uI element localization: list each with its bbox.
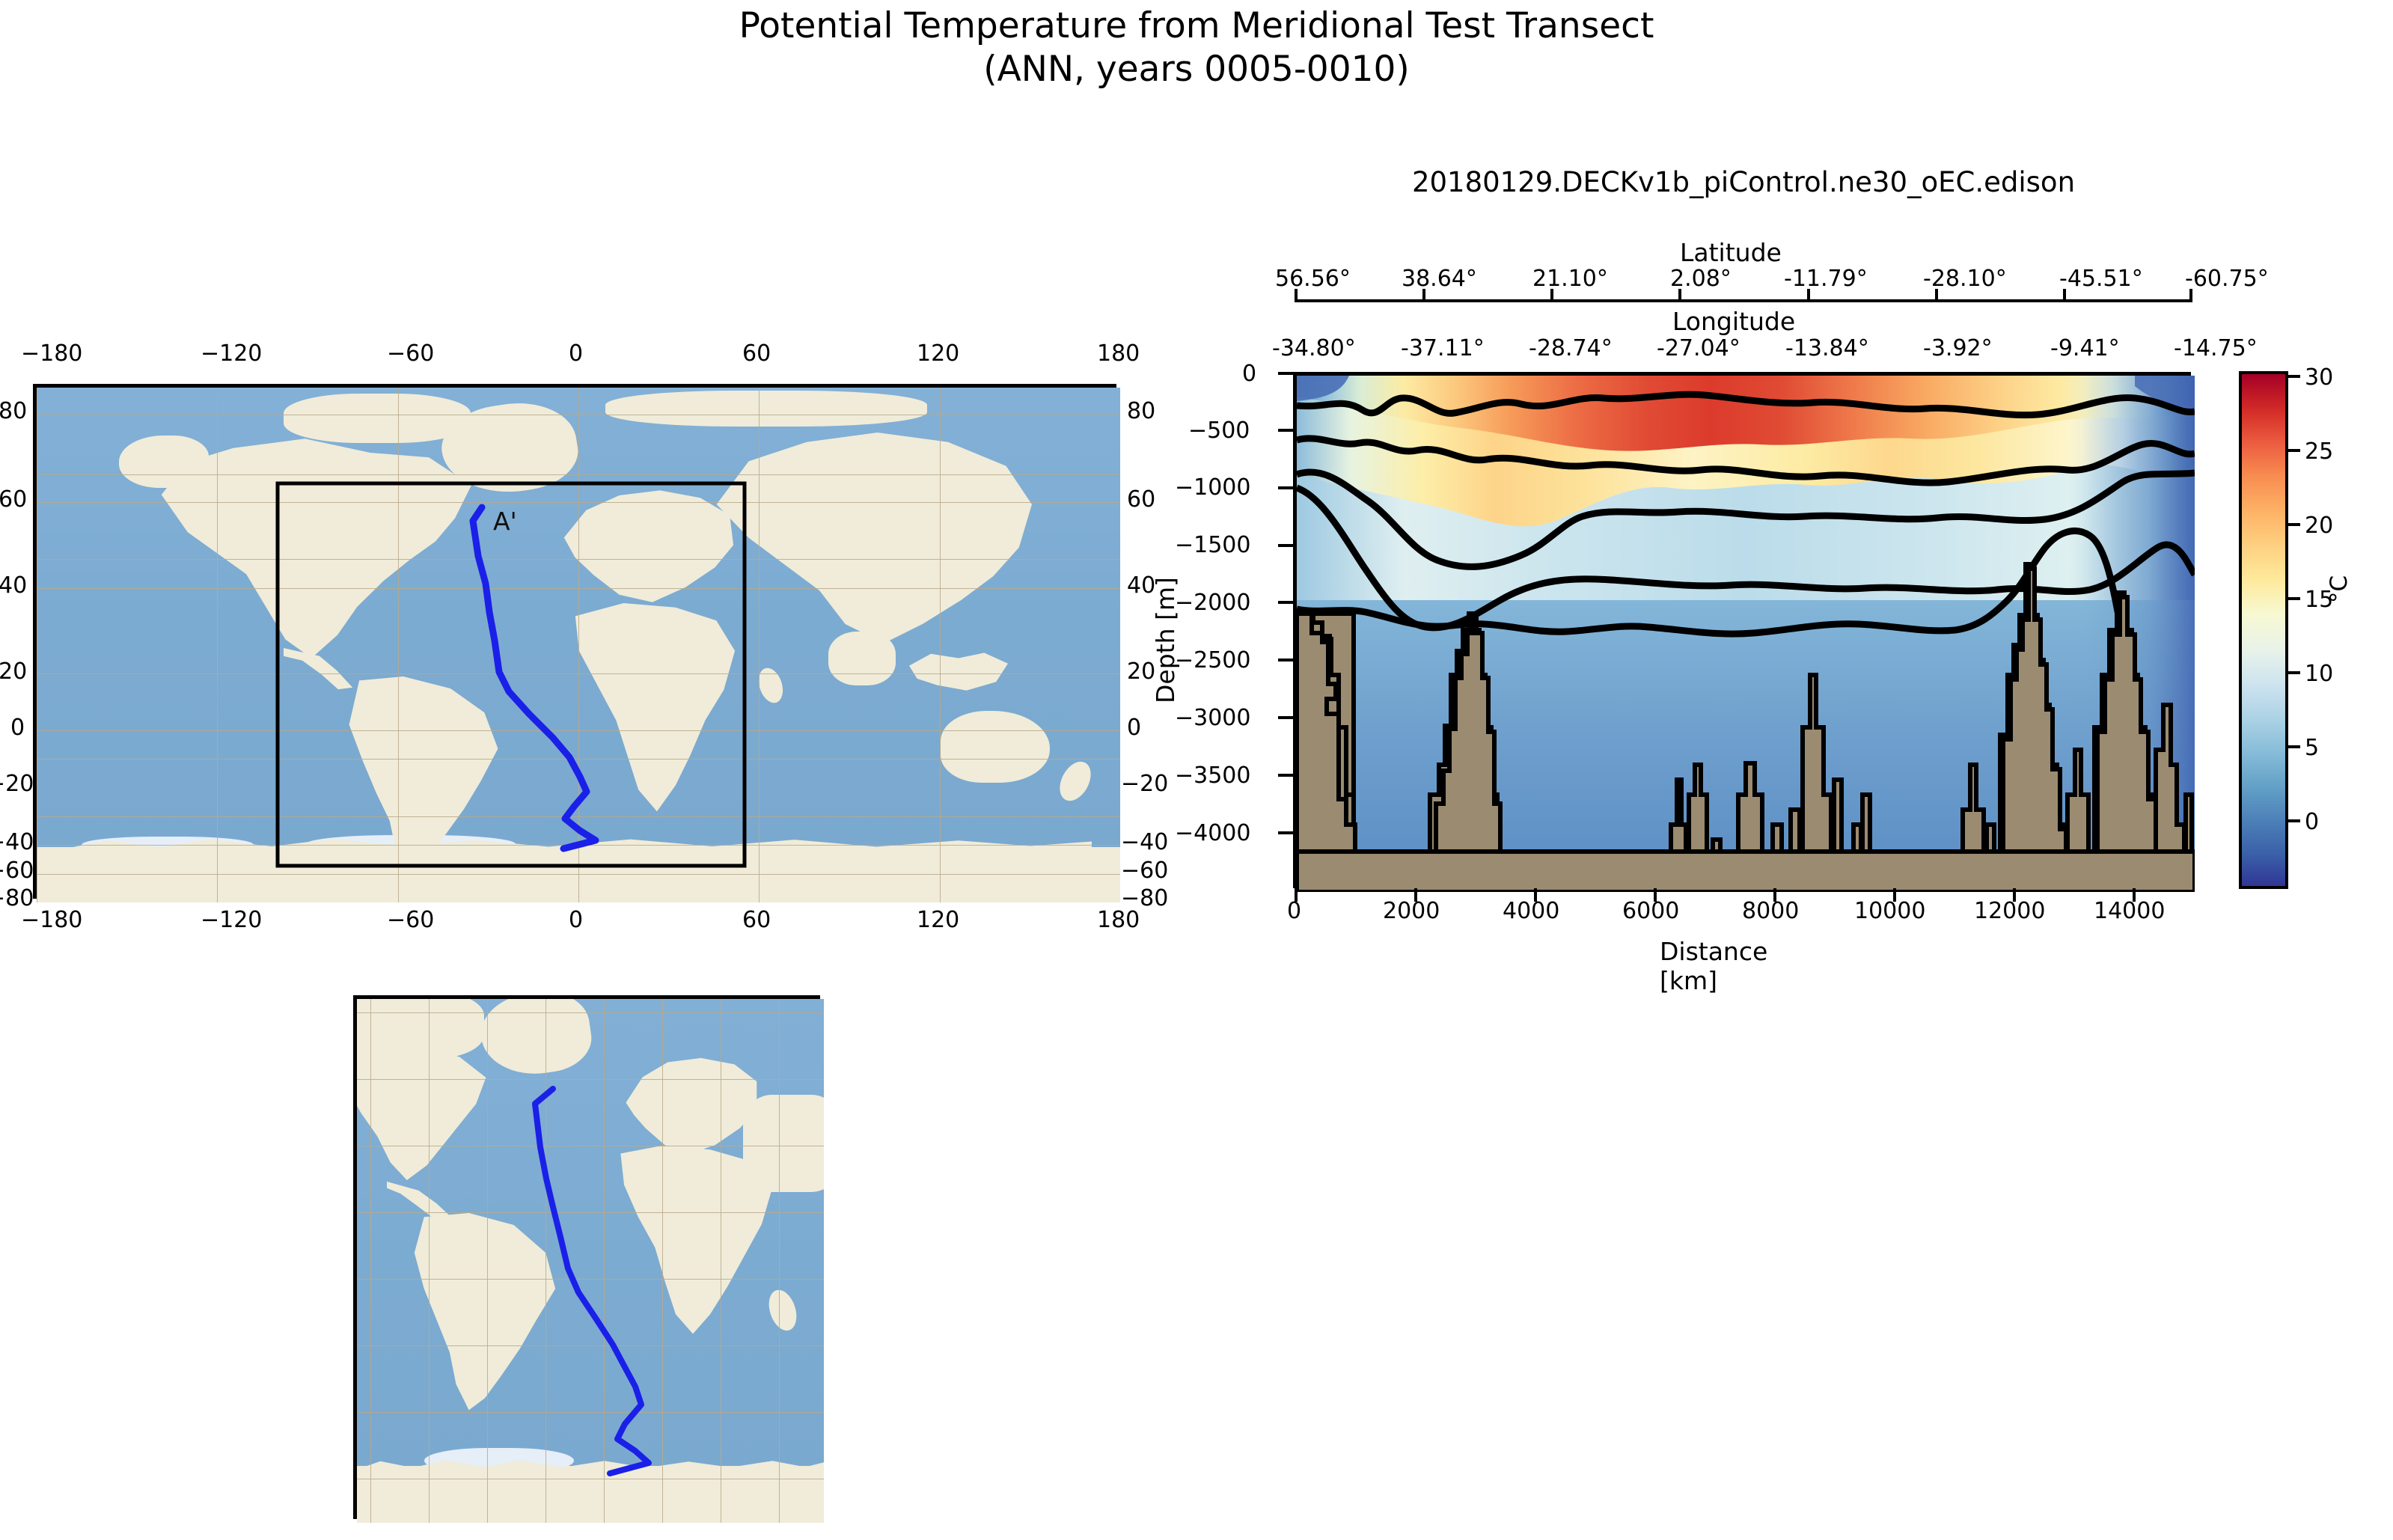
cbar-tick-10: 10 (2305, 661, 2333, 687)
depth-axis-label: Depth [m] (1151, 577, 1180, 703)
lat-tick-6: -45.51° (2059, 266, 2143, 292)
dist-tickmark-7 (2133, 888, 2136, 902)
lon-tick-0: -34.80° (1272, 335, 1356, 361)
map-xtick-bot-2: −60 (387, 907, 434, 933)
cbar-tick-0: 0 (2305, 809, 2319, 835)
lat-tickmark-5 (1935, 289, 1938, 301)
lat-tick-2: 21.10° (1532, 266, 1608, 292)
lon-tick-1: -37.11° (1401, 335, 1485, 361)
inset-overlay (357, 999, 824, 1523)
lat-axis-rule (1295, 299, 2192, 302)
dist-tickmark-4 (1773, 888, 1776, 902)
cbar-tick-30: 30 (2305, 364, 2333, 391)
depth-tick-3: −1500 (1175, 532, 1250, 558)
depth-tickmark-1 (1278, 429, 1293, 432)
latitude-axis-label: Latitude (1680, 238, 1782, 267)
map-ytick-left-4: 0 (10, 715, 25, 741)
map-xtick-top-2: −60 (387, 340, 434, 367)
cbar-tickmark-15 (2288, 597, 2300, 600)
cbar-tickmark-5 (2288, 745, 2300, 748)
depth-tick-6: −3000 (1175, 705, 1250, 731)
lon-tick-2: -28.74° (1529, 335, 1613, 361)
colorbar[interactable] (2239, 371, 2288, 889)
cbar-tickmark-0 (2288, 819, 2300, 822)
depth-tickmark-4 (1278, 601, 1293, 604)
cbar-tickmark-20 (2288, 523, 2300, 526)
dist-tick-1: 2000 (1383, 898, 1440, 924)
inset-region-box (278, 483, 745, 866)
map-ytick-left-8: −80 (0, 885, 34, 911)
dist-tick-6: 12000 (1974, 898, 2045, 924)
cross-section-panel[interactable] (1293, 372, 2191, 888)
dist-tickmark-6 (2013, 888, 2016, 902)
lat-tickmark-4 (1807, 289, 1810, 301)
depth-tick-5: −2500 (1175, 647, 1250, 673)
lon-tick-7: -14.75° (2174, 335, 2258, 361)
dist-tickmark-2 (1534, 888, 1537, 902)
map-ytick-left-5: −20 (0, 771, 34, 797)
map-ytick-left-3: 20 (0, 659, 27, 685)
lon-tick-6: -9.41° (2050, 335, 2120, 361)
distance-axis-label: Distance [km] (1660, 937, 1767, 995)
lat-tickmark-1 (1422, 289, 1425, 301)
depth-tickmark-3 (1278, 544, 1293, 547)
depth-tickmark-6 (1278, 716, 1293, 719)
dist-tick-5: 10000 (1854, 898, 1925, 924)
cbar-tickmark-10 (2288, 671, 2300, 674)
map-ytick-right-5: −20 (1121, 771, 1168, 797)
map-ytick-left-1: 60 (0, 486, 27, 513)
temperature-field (1297, 376, 2195, 892)
depth-tickmark-8 (1278, 831, 1293, 834)
cbar-tickmark-30 (2288, 375, 2300, 378)
transect-endpoint-label: A' (493, 507, 517, 536)
lat-tick-1: 38.64° (1402, 266, 1477, 292)
map-xtick-top-3: 0 (569, 340, 583, 367)
lat-tick-5: -28.10° (1923, 266, 2007, 292)
title-line-1: Potential Temperature from Meridional Te… (739, 5, 1654, 46)
lat-tickmark-6 (2063, 289, 2066, 301)
map-xtick-top-4: 60 (742, 340, 771, 367)
colorbar-label: °C (2326, 575, 2353, 603)
map-ytick-right-6: −40 (1121, 829, 1168, 855)
lon-tick-4: -13.84° (1785, 335, 1869, 361)
title-line-2: (ANN, years 0005-0010) (0, 48, 2393, 91)
map-ytick-left-6: −40 (0, 829, 34, 855)
map-ytick-right-8: −80 (1121, 885, 1168, 911)
dataset-title: 20180129.DECKv1b_piControl.ne30_oEC.edis… (1242, 166, 2245, 198)
depth-tick-2: −1000 (1175, 474, 1250, 501)
lon-tick-5: -3.92° (1923, 335, 1993, 361)
map-xtick-top-1: −120 (201, 340, 262, 367)
lat-tick-3: 2.08° (1670, 266, 1732, 292)
lat-tickmark-7 (2189, 289, 2192, 301)
depth-tick-8: −4000 (1175, 820, 1250, 846)
world-map-canvas[interactable]: A' (37, 388, 1120, 902)
dist-tickmark-1 (1414, 888, 1417, 902)
depth-tick-7: −3500 (1175, 763, 1250, 789)
depth-tickmark-5 (1278, 659, 1293, 661)
dist-tick-3: 6000 (1622, 898, 1679, 924)
world-map-panel[interactable]: A' (33, 384, 1116, 899)
dist-tickmark-3 (1654, 888, 1657, 902)
cbar-tick-20: 20 (2305, 513, 2333, 539)
longitude-axis-label: Longitude (1672, 307, 1795, 336)
map-xtick-bot-4: 60 (742, 907, 771, 933)
cbar-tick-5: 5 (2305, 735, 2319, 761)
lat-tickmark-0 (1295, 289, 1298, 301)
lat-tick-7: -60.75° (2185, 266, 2269, 292)
dist-tick-4: 8000 (1742, 898, 1799, 924)
cross-section-canvas[interactable] (1297, 376, 2195, 892)
page-title: Potential Temperature from Meridional Te… (0, 4, 2393, 92)
dist-tick-7: 14000 (2094, 898, 2165, 924)
dist-tick-0: 0 (1287, 898, 1301, 924)
lat-tick-0: 56.56° (1275, 266, 1351, 292)
depth-tick-4: −2000 (1175, 590, 1250, 616)
map-ytick-left-0: 80 (0, 398, 27, 424)
dist-tickmark-0 (1295, 888, 1298, 902)
cbar-tick-25: 25 (2305, 439, 2333, 465)
lat-tick-4: -11.79° (1784, 266, 1868, 292)
map-overlay: A' (37, 388, 1120, 902)
map-ytick-left-7: −60 (0, 858, 34, 884)
map-ytick-right-1: 60 (1127, 486, 1155, 513)
map-ytick-right-0: 80 (1127, 398, 1155, 424)
map-xtick-bot-3: 0 (569, 907, 583, 933)
depth-tickmark-0 (1278, 372, 1293, 375)
depth-tickmark-2 (1278, 486, 1293, 489)
cbar-tickmark-25 (2288, 449, 2300, 452)
map-xtick-bot-1: −120 (201, 907, 262, 933)
map-xtick-bot-5: 120 (917, 907, 959, 933)
dist-tickmark-5 (1893, 888, 1896, 902)
lat-tickmark-2 (1550, 289, 1553, 301)
depth-tick-1: −500 (1188, 418, 1250, 444)
lat-tickmark-3 (1678, 289, 1681, 301)
depth-tickmark-7 (1278, 774, 1293, 777)
map-ytick-right-4: 0 (1127, 715, 1141, 741)
map-ytick-right-7: −60 (1121, 858, 1168, 884)
transect-line (473, 507, 596, 849)
dist-tick-2: 4000 (1503, 898, 1559, 924)
map-xtick-top-5: 120 (917, 340, 959, 367)
map-xtick-top-0: −180 (21, 340, 82, 367)
lon-tick-3: -27.04° (1657, 335, 1740, 361)
depth-tick-0: 0 (1242, 361, 1256, 387)
inset-map-canvas[interactable] (357, 999, 824, 1523)
map-ytick-left-2: 40 (0, 572, 27, 599)
inset-map-panel[interactable] (353, 995, 820, 1519)
inset-transect-line (535, 1089, 649, 1473)
map-xtick-top-6: 180 (1097, 340, 1140, 367)
